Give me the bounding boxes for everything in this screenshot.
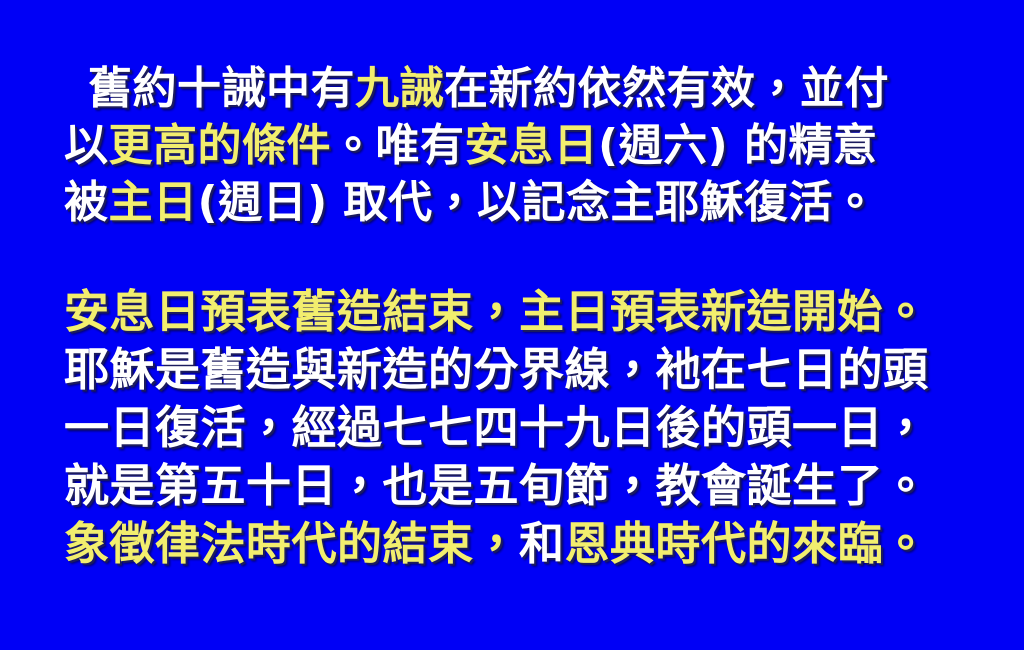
- text-segment-primary: 耶穌是舊造與新造的分界線，衪在七日的頭: [64, 343, 929, 396]
- paragraph-2-line-4: 就是第五十日，也是五旬節，教會誕生了。: [64, 457, 960, 515]
- text-segment-primary: 。唯有: [331, 120, 465, 171]
- paragraph-1-line-3: 被主日(週日) 取代，以記念主耶穌復活。: [64, 174, 960, 231]
- text-segment-primary: 舊約十誡中有: [88, 63, 355, 114]
- text-segment-primary: 一日復活，經過七七四十九日後的頭一日，: [64, 401, 929, 454]
- paragraph-1-line-1: 舊約十誡中有九誡在新約依然有效，並付: [64, 60, 960, 117]
- paragraph-spacer: [64, 231, 960, 283]
- paragraph-2: 安息日預表舊造結束，主日預表新造開始。 耶穌是舊造與新造的分界線，衪在七日的頭 …: [64, 283, 960, 573]
- text-segment-primary: (週六) 的精意: [598, 120, 878, 171]
- text-segment-accent: 更高的條件: [109, 120, 332, 171]
- text-segment-accent: 象徵律法時代的結束，: [64, 517, 519, 570]
- text-segment-accent: 安息日: [465, 120, 599, 171]
- paragraph-2-line-5: 象徵律法時代的結束，和恩典時代的來臨。: [64, 515, 960, 573]
- paragraph-1: 舊約十誡中有九誡在新約依然有效，並付 以更高的條件。唯有安息日(週六) 的精意 …: [64, 60, 960, 231]
- paragraph-2-line-3: 一日復活，經過七七四十九日後的頭一日，: [64, 399, 960, 457]
- text-segment-primary: (週日) 取代，以記念主耶穌復活。: [198, 177, 878, 228]
- text-segment-primary: 在新約依然有效，並付: [444, 63, 889, 114]
- text-segment-accent: 恩典時代的來臨。: [565, 517, 929, 570]
- text-segment-accent: 主日: [109, 177, 198, 228]
- paragraph-2-line-1: 安息日預表舊造結束，主日預表新造開始。: [64, 283, 960, 341]
- text-segment-accent: 九誡: [355, 63, 444, 114]
- slide-canvas: 舊約十誡中有九誡在新約依然有效，並付 以更高的條件。唯有安息日(週六) 的精意 …: [0, 0, 1024, 650]
- text-segment-primary: 以: [64, 120, 109, 171]
- slide-content: 舊約十誡中有九誡在新約依然有效，並付 以更高的條件。唯有安息日(週六) 的精意 …: [0, 0, 1024, 573]
- text-segment-accent: 安息日預表舊造結束，主日預表新造開始。: [64, 285, 929, 338]
- text-segment-primary: 就是第五十日，也是五旬節，教會誕生了。: [64, 459, 929, 512]
- text-segment-primary: 被: [64, 177, 109, 228]
- text-segment-primary: 和: [519, 517, 565, 570]
- paragraph-1-line-2: 以更高的條件。唯有安息日(週六) 的精意: [64, 117, 960, 174]
- paragraph-2-line-2: 耶穌是舊造與新造的分界線，衪在七日的頭: [64, 341, 960, 399]
